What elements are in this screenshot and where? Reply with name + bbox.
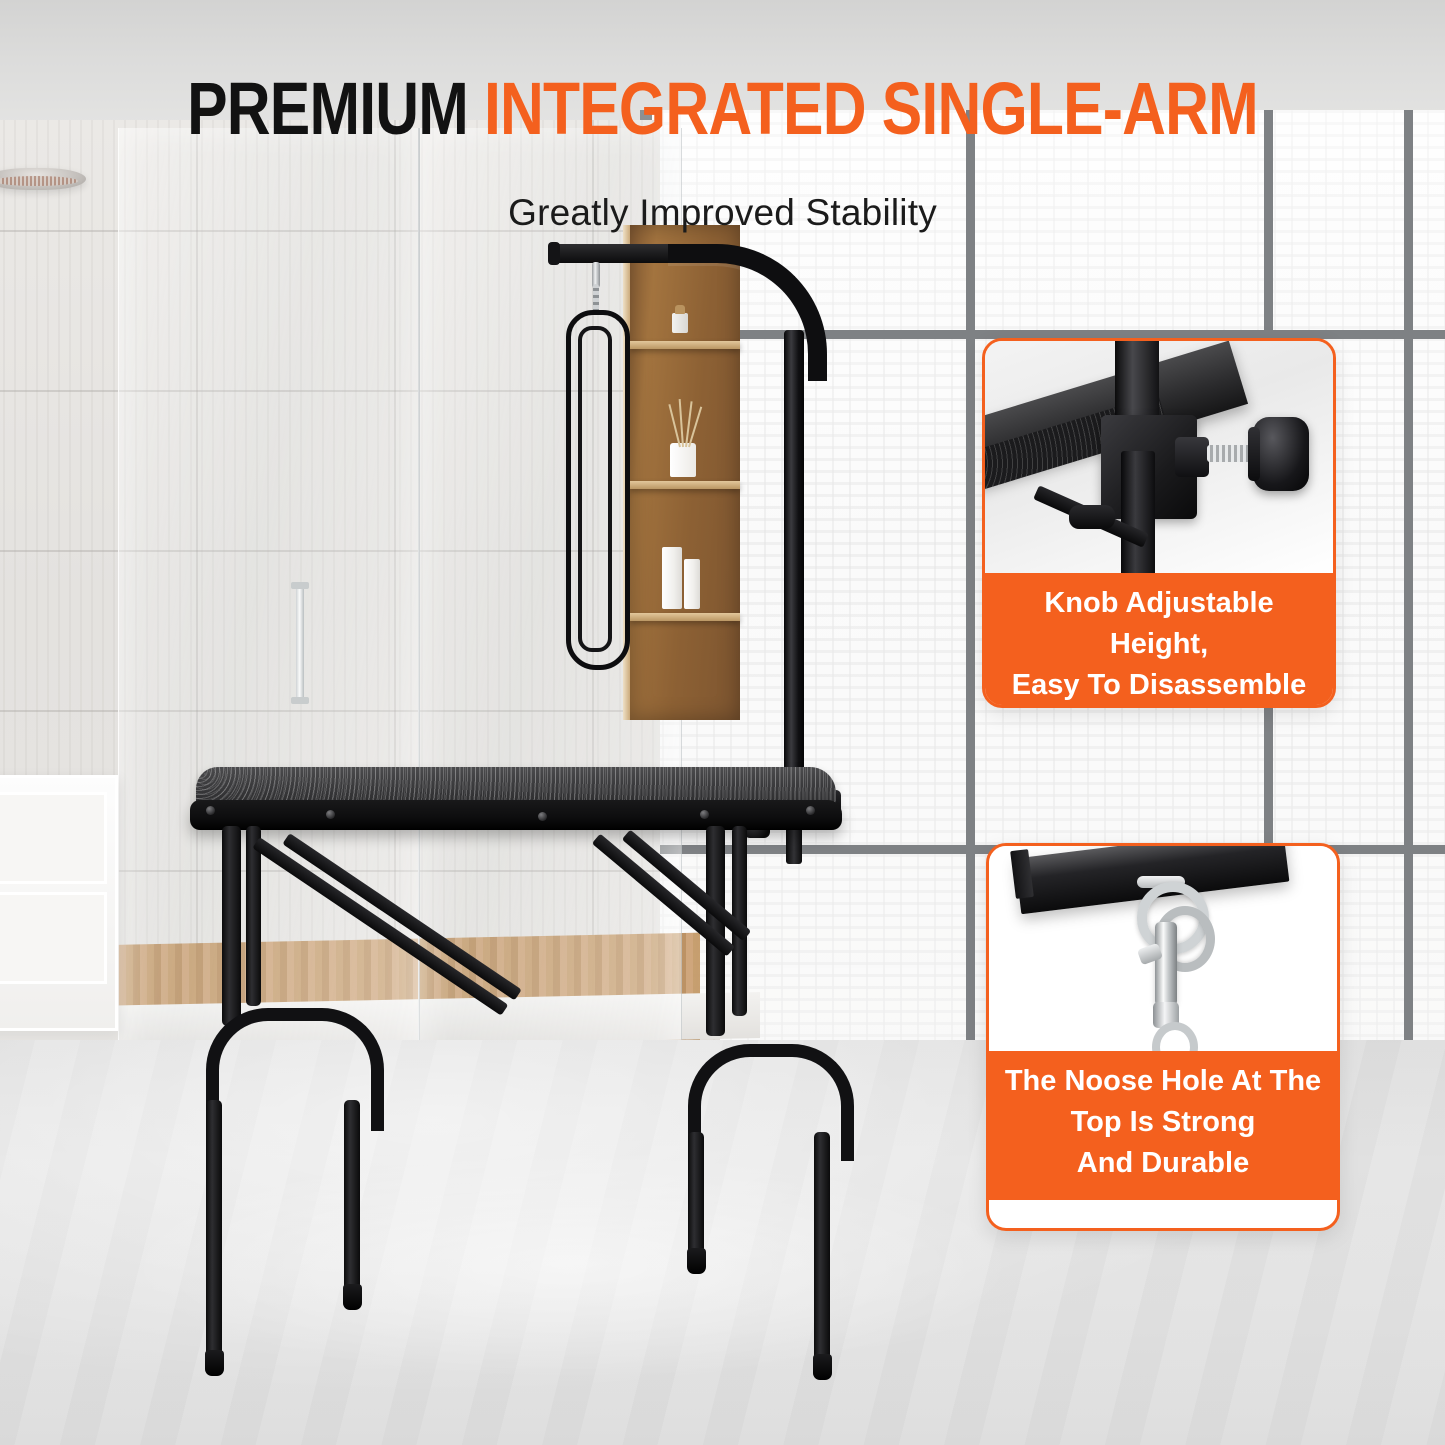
niche-edge xyxy=(623,225,630,720)
callout-photo-knob xyxy=(985,341,1333,573)
snap-hook-shaft xyxy=(1155,922,1177,1006)
callout-card-noose-hole: The Noose Hole At The Top Is Strong And … xyxy=(986,843,1340,1231)
shower-head-icon xyxy=(0,168,86,190)
caption-line: Easy To Disassemble xyxy=(997,665,1321,706)
floor-highlight xyxy=(120,1150,1020,1380)
glass-shower-panel xyxy=(118,128,420,1138)
caption-line: And Durable xyxy=(1001,1143,1325,1184)
adjust-knob-icon xyxy=(1253,417,1309,491)
niche-shelf-board xyxy=(630,613,740,621)
caption-line: Top Is Strong xyxy=(1001,1102,1325,1143)
reed-diffuser xyxy=(670,443,696,477)
wall-niche-shelf xyxy=(630,225,740,720)
rubber-foot xyxy=(1069,505,1115,529)
arm-post-lower-segment xyxy=(1121,451,1155,573)
callout-photo-noose-hole xyxy=(989,846,1337,1051)
glass-seam xyxy=(418,128,420,1138)
window-mullion-vertical xyxy=(1404,110,1413,1110)
clamp-nut xyxy=(1175,437,1209,477)
cabinet-drawer[interactable] xyxy=(0,892,107,984)
headline-black-part: PREMIUM xyxy=(187,67,484,150)
shower-door-handle[interactable] xyxy=(296,582,304,704)
callout-caption-noose-hole: The Noose Hole At The Top Is Strong And … xyxy=(989,1051,1337,1200)
callout-card-knob: Knob Adjustable Height, Easy To Disassem… xyxy=(982,338,1336,708)
caption-line: Knob Adjustable Height, xyxy=(997,583,1321,665)
caption-line: The Noose Hole At The xyxy=(1001,1061,1325,1102)
niche-shelf-board xyxy=(630,341,740,349)
cabinet-drawer[interactable] xyxy=(0,792,107,884)
page-title: PREMIUM INTEGRATED SINGLE-ARM xyxy=(130,72,1315,146)
callout-caption-knob: Knob Adjustable Height, Easy To Disassem… xyxy=(985,573,1333,708)
product-marketing-image: PREMIUM INTEGRATED SINGLE-ARM Greatly Im… xyxy=(0,0,1445,1445)
page-subtitle: Greatly Improved Stability xyxy=(0,192,1445,234)
bathroom-cabinet xyxy=(0,775,118,1031)
niche-shelf-board xyxy=(630,481,740,489)
window-mullion-vertical xyxy=(966,110,975,1110)
decor-bottle xyxy=(684,559,700,609)
caption-line: And Assemble xyxy=(997,706,1321,708)
headline-orange-part: INTEGRATED SINGLE-ARM xyxy=(484,67,1258,150)
decor-bottle xyxy=(662,547,682,609)
decor-jar xyxy=(672,313,688,333)
